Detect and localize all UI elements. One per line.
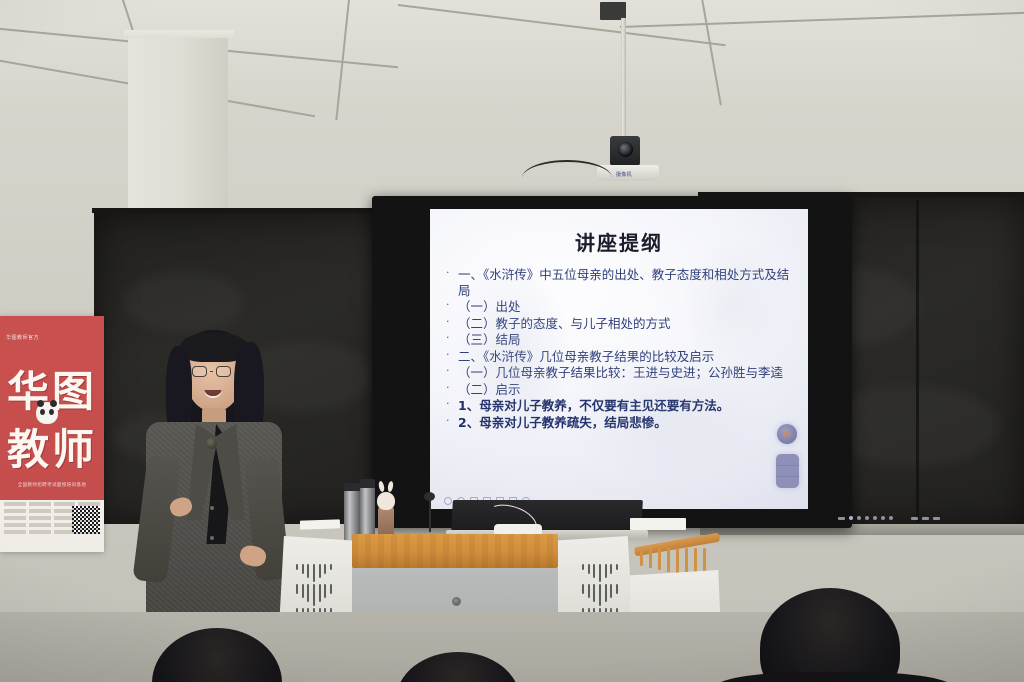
- necklace-pendant: [206, 438, 217, 449]
- panda-mascot-icon: [36, 402, 58, 424]
- list-item: · （二）启示: [446, 382, 798, 398]
- bullet-text: 2、母亲对儿子教养疏失，结局悲惨。: [458, 415, 798, 431]
- list-item: · （一）出处: [446, 299, 798, 315]
- power-button[interactable]: ⏻: [777, 424, 797, 444]
- bullet-text: （二）启示: [458, 382, 798, 398]
- thermos-cap: [360, 479, 375, 488]
- desk-papers: [300, 519, 340, 529]
- bullet-marker: ·: [446, 398, 458, 409]
- ir-sensor-icon: [911, 517, 918, 520]
- bullet-marker: ·: [446, 316, 458, 327]
- display-bezel-controls[interactable]: [838, 516, 940, 520]
- channel-up-button[interactable]: [881, 516, 885, 520]
- menu-button[interactable]: [889, 516, 893, 520]
- thermos-cap: [344, 483, 360, 491]
- source-button[interactable]: [838, 517, 845, 520]
- camera-pole: [621, 18, 626, 138]
- bullet-marker: ·: [446, 267, 458, 278]
- blackboard-seam: [916, 200, 919, 522]
- list-item: · 1、母亲对儿子教养，不仅要有主见还要有方法。: [446, 398, 798, 414]
- status-led-icon: [922, 517, 929, 520]
- laptop-screen[interactable]: [451, 500, 643, 534]
- promotional-poster: 华图教师官方 华图 教师 全国教师招聘考试面授培训基地: [0, 316, 104, 552]
- power-icon: ⏻: [783, 429, 790, 440]
- bullet-text: 1、母亲对儿子教养，不仅要有主见还要有方法。: [458, 398, 798, 414]
- list-item: · 二、《水浒传》几位母亲教子结果的比较及启示: [446, 349, 798, 365]
- volume-down-button[interactable]: [857, 516, 861, 520]
- presentation-screen[interactable]: 讲座提纲 · 一、《水浒传》中五位母亲的出处、教子态度和相处方式及结局 · （一…: [430, 209, 808, 509]
- jacket-button: [210, 536, 214, 540]
- slide-bullet-list: · 一、《水浒传》中五位母亲的出处、教子态度和相处方式及结局 · （一）出处 ·…: [446, 267, 798, 431]
- bullet-text: （一）几位母亲教子结果比较：王进与史进；公孙胜与李逵: [458, 365, 798, 381]
- channel-down-button[interactable]: [873, 516, 877, 520]
- menu-pad-button[interactable]: [776, 454, 799, 488]
- glasses-bridge: [210, 371, 213, 372]
- microphone-stand: [429, 498, 431, 532]
- mascot-ear: [37, 400, 44, 407]
- presenter: [140, 330, 300, 660]
- camera-brand-label: 摄像机: [616, 171, 632, 178]
- podium-speaker-grille-right: [582, 564, 618, 616]
- desk-figurine-head: [377, 492, 395, 510]
- mascot-eye: [40, 409, 45, 415]
- mascot-eye: [49, 409, 54, 415]
- podium-lock-icon[interactable]: [452, 597, 461, 606]
- bullet-text: （三）结局: [458, 332, 798, 348]
- desk-papers: [630, 518, 686, 530]
- poster-headline-2: 教师: [0, 416, 104, 477]
- slide-title: 讲座提纲: [430, 227, 808, 256]
- poster-top-text: 华图教师官方: [6, 334, 39, 341]
- wall-column: [128, 38, 228, 224]
- desk-figurine-body: [378, 506, 394, 536]
- bullet-marker: ·: [446, 349, 458, 360]
- bullet-text: （一）出处: [458, 299, 798, 315]
- eyeglasses-icon: [192, 366, 231, 377]
- qr-code-icon: [72, 506, 100, 534]
- list-item: · 一、《水浒传》中五位母亲的出处、教子态度和相处方式及结局: [446, 267, 798, 298]
- podium-speaker-grille-left: [296, 564, 332, 616]
- glasses-lens: [192, 366, 207, 377]
- lecture-hall-photo: 摄像机 讲座提纲 · 一、《水浒传》中五位母亲的出处、教子态度和相处方式及结局 …: [0, 0, 1024, 682]
- brand-plate: [933, 517, 940, 520]
- bullet-marker: ·: [446, 382, 458, 393]
- list-item: · 2、母亲对儿子教养疏失，结局悲惨。: [446, 415, 798, 431]
- ceiling-grid-line: [699, 0, 722, 105]
- pen-icon[interactable]: [444, 497, 452, 505]
- power-led-icon: [849, 516, 853, 520]
- thermos-bottle: [360, 486, 375, 541]
- camera-lens-icon: [618, 142, 633, 157]
- list-item: · （二）教子的态度、与儿子相处的方式: [446, 316, 798, 332]
- camera-cable: [522, 160, 612, 196]
- bullet-marker: ·: [446, 365, 458, 376]
- bullet-marker: ·: [446, 332, 458, 343]
- list-item: · （三）结局: [446, 332, 798, 348]
- bullet-text: 一、《水浒传》中五位母亲的出处、教子态度和相处方式及结局: [458, 267, 798, 298]
- jacket-button: [210, 506, 214, 510]
- bullet-text: （二）教子的态度、与儿子相处的方式: [458, 316, 798, 332]
- volume-up-button[interactable]: [865, 516, 869, 520]
- microphone-head-icon: [424, 492, 435, 501]
- ceiling-grid-line: [620, 11, 1024, 28]
- smart-display[interactable]: 讲座提纲 · 一、《水浒传》中五位母亲的出处、教子态度和相处方式及结局 · （一…: [372, 196, 852, 528]
- bullet-text: 二、《水浒传》几位母亲教子结果的比较及启示: [458, 349, 798, 365]
- blackboard-frame: [92, 208, 396, 213]
- bullet-marker: ·: [446, 415, 458, 426]
- chalk-smudge: [124, 272, 244, 332]
- list-item: · （一）几位母亲教子结果比较：王进与史进；公孙胜与李逵: [446, 365, 798, 381]
- poster-subtitle: 全国教师招聘考试面授培训基地: [0, 482, 104, 488]
- glasses-lens: [216, 366, 231, 377]
- podium-wood-top: [352, 534, 558, 568]
- mascot-ear: [50, 400, 57, 407]
- bullet-marker: ·: [446, 299, 458, 310]
